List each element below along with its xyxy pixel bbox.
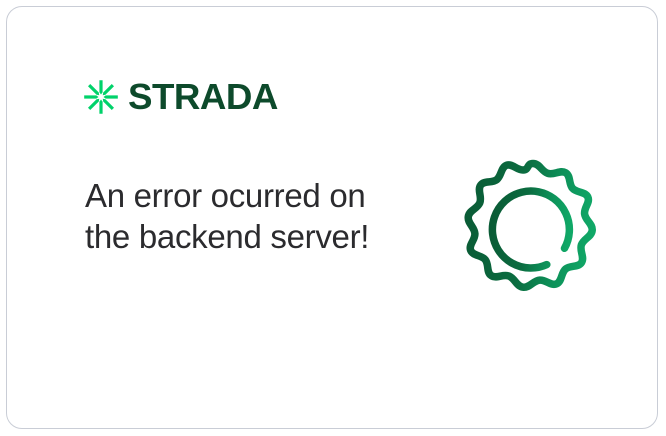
brand-logo: STRADA xyxy=(83,79,275,115)
strada-asterisk-mark-icon xyxy=(83,79,119,115)
page-root: STRADA An error ocurred on the backend s… xyxy=(0,0,666,436)
gear-icon xyxy=(455,152,611,308)
error-message: An error ocurred on the backend server! xyxy=(85,175,385,257)
brand-name: STRADA xyxy=(128,79,278,115)
error-card: STRADA An error ocurred on the backend s… xyxy=(6,6,658,429)
